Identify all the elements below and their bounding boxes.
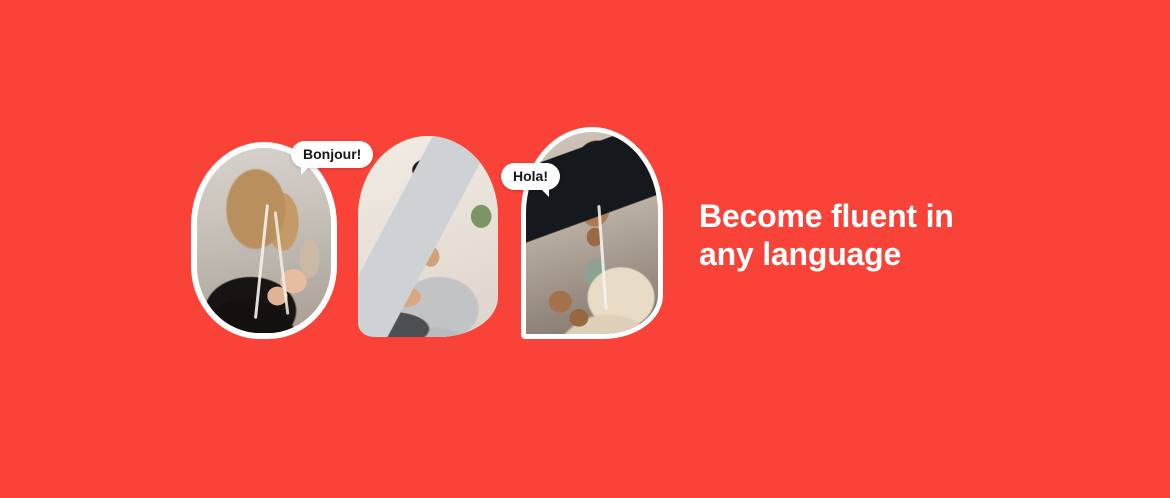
photo-man-with-laptop-image [358,136,498,337]
earbud-cable-right [274,211,290,314]
photo-woman-with-phone [191,142,337,339]
language-learning-banner: Bonjour! Hola! Become fluent in any lang… [0,0,1170,498]
photo-man-with-laptop [358,136,498,337]
earbud-cable [598,205,608,310]
speech-bubble-hola: Hola! [501,163,560,190]
speech-bubble-bonjour: Bonjour! [291,141,373,168]
photo-woman-with-phone-image [197,148,331,333]
headline: Become fluent in any language [699,198,1089,274]
headline-line-1: Become fluent in [699,198,1089,236]
earbud-cable-left [254,204,269,318]
photo-woman-with-trench-coat [521,127,663,339]
headline-line-2: any language [699,236,1089,274]
photo-collage: Bonjour! Hola! [0,0,700,498]
